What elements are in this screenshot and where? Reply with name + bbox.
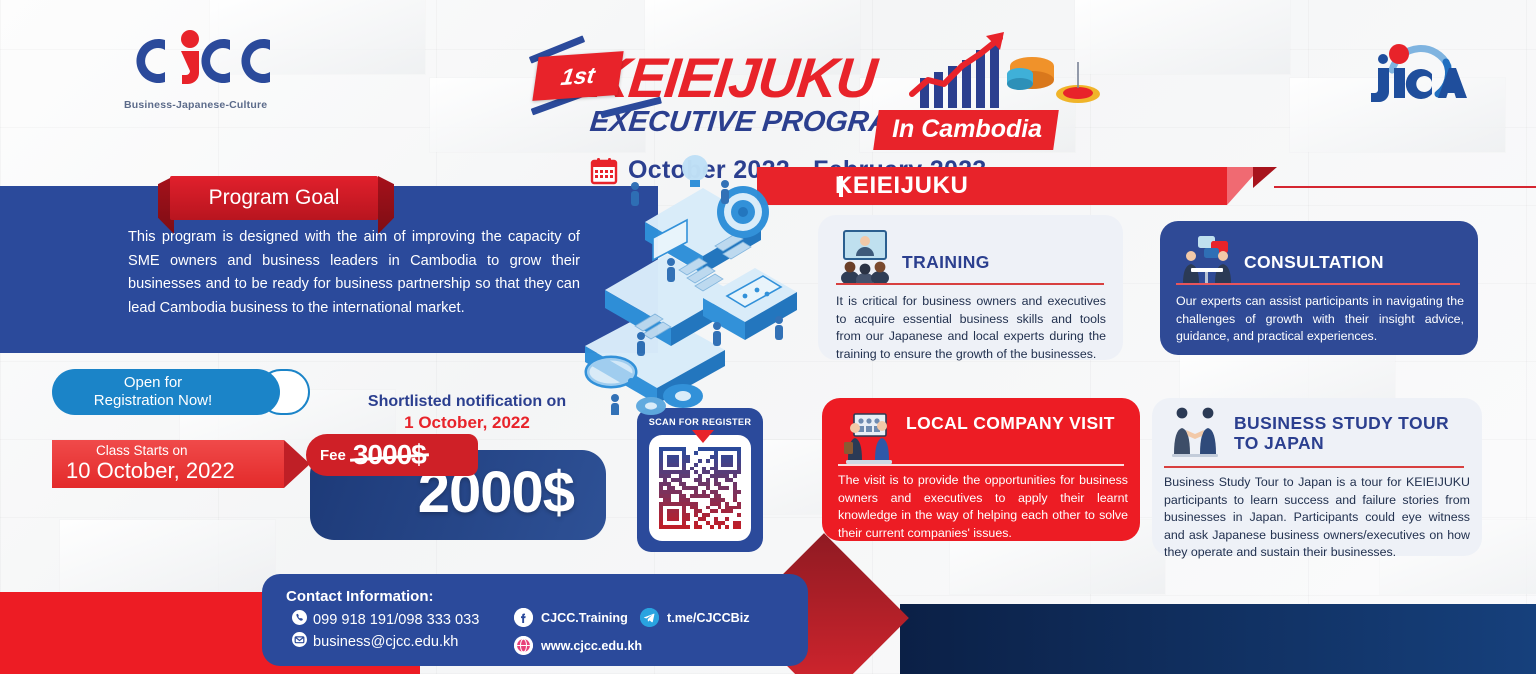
contact-box: Contact Information: 099 918 191/098 333… [262, 574, 808, 666]
card-body: Business Study Tour to Japan is a tour f… [1164, 474, 1470, 562]
class-start-label: Class Starts on [96, 444, 284, 459]
cjcc-logo-mark [118, 30, 348, 92]
fee-original-price: 3000$ [353, 439, 426, 471]
website-url: www.cjcc.edu.kh [541, 639, 642, 653]
title-block: 1st KEIEIJUKU EXECUTIVE PROGRAM In Cambo… [528, 32, 1098, 162]
card-training[interactable]: TRAINING It is critical for business own… [818, 215, 1123, 360]
facebook-row[interactable]: CJCC.Training [514, 608, 628, 627]
card-visit[interactable]: LOCAL COMPANY VISIT The visit is to prov… [822, 398, 1140, 541]
isometric-graphic [575, 150, 800, 415]
banner-accent-bar [839, 176, 843, 197]
contact-phone-row[interactable]: 099 918 191/098 333 033 [292, 610, 479, 629]
cjcc-logo: Business-Japanese-Culture [118, 30, 348, 110]
card-divider [1164, 466, 1464, 468]
presentation-training-icon [836, 229, 894, 285]
card-title: BUSINESS STUDY TOUR TO JAPAN [1234, 414, 1460, 454]
program-goal-body: This program is designed with the aim of… [128, 226, 580, 321]
telegram-icon [640, 608, 659, 627]
pill-line-1: Open for [124, 374, 182, 392]
contact-email-row[interactable]: business@cjcc.edu.kh [292, 632, 458, 651]
page-subtitle: EXECUTIVE PROGRAM [588, 108, 915, 137]
email-icon [292, 632, 307, 651]
section-banner-label: KEIEIJUKU [835, 172, 968, 200]
qr-code-image [659, 447, 741, 529]
facebook-icon [514, 608, 533, 627]
telegram-row[interactable]: t.me/CJCCBiz [640, 608, 750, 627]
shortlist-notification: Shortlisted notification on 1 October, 2… [332, 392, 602, 434]
chart-coins-icon [908, 32, 1108, 117]
card-tour[interactable]: BUSINESS STUDY TOUR TO JAPAN Business St… [1152, 398, 1482, 556]
website-row[interactable]: www.cjcc.edu.kh [514, 636, 642, 655]
program-goal-heading: Program Goal [170, 176, 378, 220]
bg-brick [60, 520, 275, 594]
page-title: KEIEIJUKU [587, 50, 878, 106]
fee-original-badge: Fee 3000$ [306, 434, 478, 476]
isometric-business-illustration [575, 150, 800, 415]
qr-code-surface [649, 435, 751, 541]
cjcc-tagline: Business-Japanese-Culture [124, 99, 348, 111]
banner-slant-dark [1253, 167, 1277, 188]
footer-navy-bar [900, 604, 1536, 674]
card-divider [836, 283, 1104, 285]
registration-status-pill[interactable]: Open for Registration Now! [52, 369, 280, 415]
qr-pointer-icon [692, 430, 714, 443]
contact-phone: 099 918 191/098 333 033 [313, 612, 479, 628]
card-body: The visit is to provide the opportunitie… [838, 472, 1128, 542]
card-title: CONSULTATION [1244, 253, 1384, 273]
globe-icon [514, 636, 533, 655]
shortlist-label: Shortlisted notification on [332, 392, 602, 412]
ribbon-fold [284, 440, 310, 488]
pill-line-2: Registration Now! [94, 392, 212, 410]
card-consultation[interactable]: CONSULTATION Our experts can assist part… [1160, 221, 1478, 355]
card-divider [1176, 283, 1460, 285]
contact-title: Contact Information: [286, 588, 434, 605]
section-banner: KEIEIJUKU [757, 167, 1227, 205]
telegram-handle: t.me/CJCCBiz [667, 611, 750, 625]
qr-label: SCAN FOR REGISTER [637, 417, 763, 427]
card-body: It is critical for business owners and e… [836, 293, 1106, 363]
contact-email: business@cjcc.edu.kh [313, 634, 458, 650]
ordinal-badge: 1st [532, 51, 623, 101]
class-start-date: 10 October, 2022 [66, 459, 284, 484]
card-title: TRAINING [902, 253, 990, 273]
shortlist-date: 1 October, 2022 [332, 412, 602, 434]
phone-icon [292, 610, 307, 629]
growth-chart-graphic [908, 32, 1108, 117]
card-divider [838, 464, 1124, 466]
facebook-handle: CJCC.Training [541, 611, 628, 625]
card-body: Our experts can assist participants in n… [1176, 293, 1464, 346]
banner-underline [1274, 186, 1536, 188]
card-title: LOCAL COMPANY VISIT [906, 414, 1118, 434]
company-visit-icon [840, 412, 898, 468]
jica-logo-mark [1352, 36, 1472, 106]
qr-register-card[interactable]: SCAN FOR REGISTER [637, 408, 763, 552]
location-badge-label: In Cambodia [892, 115, 1042, 144]
handshake-icon [1166, 404, 1224, 460]
class-start-ribbon: Class Starts on 10 October, 2022 [52, 440, 284, 488]
location-badge: In Cambodia [873, 110, 1059, 150]
jica-logo [1352, 36, 1472, 106]
fee-label: Fee [320, 447, 346, 464]
poster-canvas: Business-Japanese-Culture 1st KEIEIJUKU … [0, 0, 1536, 674]
